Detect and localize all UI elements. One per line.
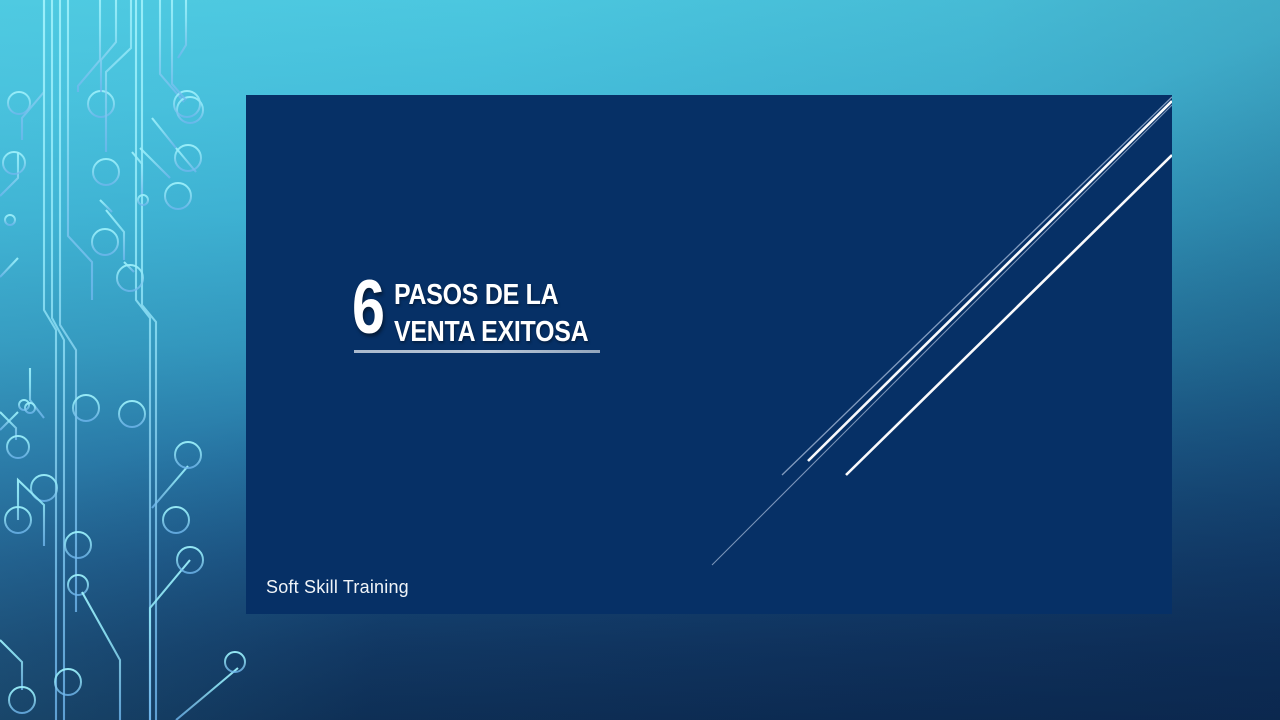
title-line-2: VENTA EXITOSA bbox=[394, 314, 588, 351]
slide-content-panel: 6 PASOS DE LA VENTA EXITOSA Soft Skill T… bbox=[246, 95, 1172, 614]
slide-canvas: 6 PASOS DE LA VENTA EXITOSA Soft Skill T… bbox=[0, 0, 1280, 720]
slide-title-block: 6 PASOS DE LA VENTA EXITOSA bbox=[352, 272, 772, 350]
title-text-group: PASOS DE LA VENTA EXITOSA bbox=[394, 277, 620, 350]
title-row: 6 PASOS DE LA VENTA EXITOSA bbox=[352, 272, 772, 350]
title-number: 6 bbox=[352, 278, 389, 339]
slide-subtitle: Soft Skill Training bbox=[266, 577, 409, 598]
title-line-1: PASOS DE LA bbox=[394, 277, 588, 314]
title-underline bbox=[354, 350, 600, 353]
diagonal-accent-lines bbox=[246, 95, 1172, 614]
